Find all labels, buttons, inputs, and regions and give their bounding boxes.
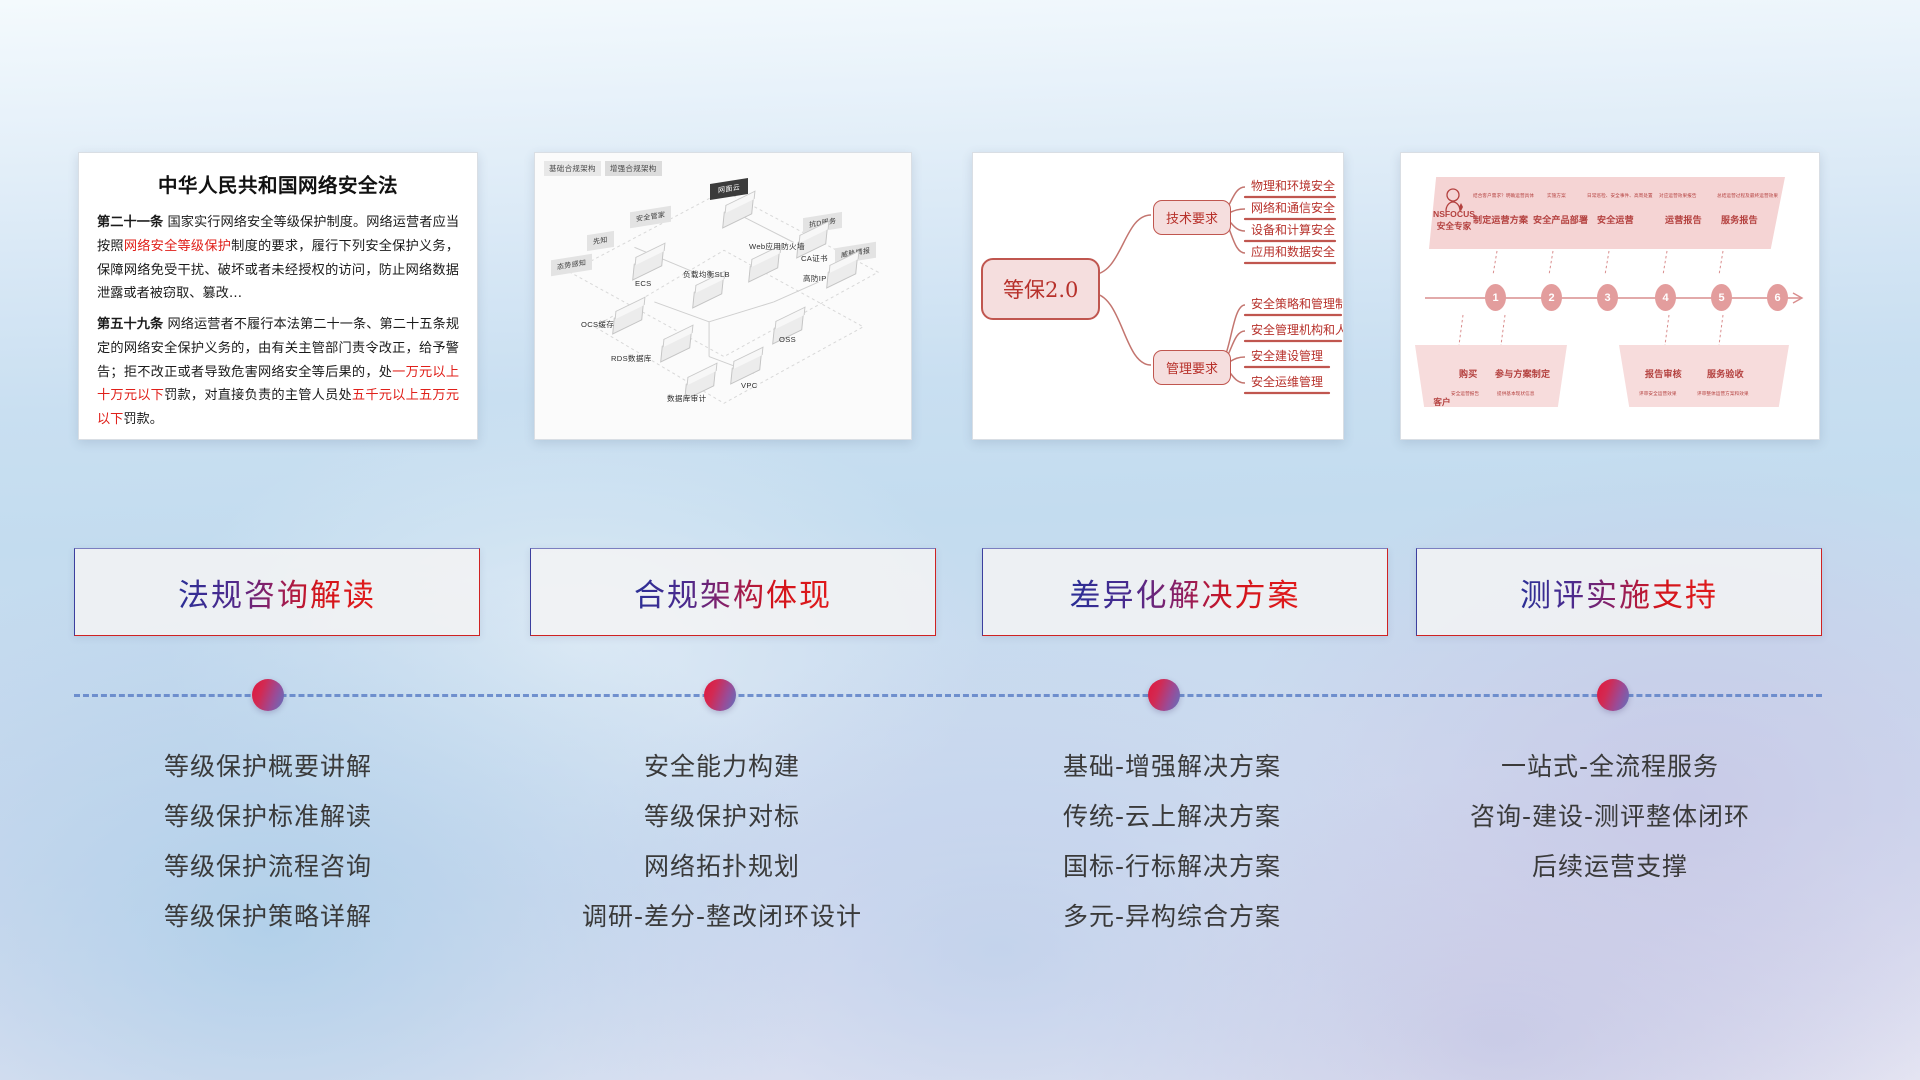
- bullet-column-1: 等级保护概要讲解 等级保护标准解读 等级保护流程咨询 等级保护策略详解: [58, 742, 478, 942]
- headline-box-compliance-architecture[interactable]: 合规架构体现: [530, 548, 936, 636]
- bullet-item: 安全能力构建: [512, 742, 932, 792]
- bullet-item: 等级保护对标: [512, 792, 932, 842]
- bullet-item: 等级保护流程咨询: [58, 842, 478, 892]
- bullet-item: 多元-异构综合方案: [962, 892, 1382, 942]
- bullet-item: 传统-云上解决方案: [962, 792, 1382, 842]
- slide-canvas: 中华人民共和国网络安全法 第二十一条 国家实行网络安全等级保护制度。网络运营者应…: [0, 0, 1920, 1080]
- bullet-item: 等级保护概要讲解: [58, 742, 478, 792]
- bullet-item: 咨询-建设-测评整体闭环: [1400, 792, 1820, 842]
- bullet-item: 一站式-全流程服务: [1400, 742, 1820, 792]
- bullet-item: 基础-增强解决方案: [962, 742, 1382, 792]
- bullet-item: 调研-差分-整改闭环设计: [512, 892, 932, 942]
- timeline-dashed-axis: [74, 694, 1822, 697]
- bullet-column-2: 安全能力构建 等级保护对标 网络拓扑规划 调研-差分-整改闭环设计: [512, 742, 932, 942]
- bullet-column-4: 一站式-全流程服务 咨询-建设-测评整体闭环 后续运营支撑: [1400, 742, 1820, 892]
- bullet-item: 等级保护策略详解: [58, 892, 478, 942]
- timeline-marker-3[interactable]: [1148, 679, 1180, 711]
- bullet-item: 国标-行标解决方案: [962, 842, 1382, 892]
- headline-label-2: 合规架构体现: [634, 570, 832, 615]
- bullet-column-3: 基础-增强解决方案 传统-云上解决方案 国标-行标解决方案 多元-异构综合方案: [962, 742, 1382, 942]
- timeline-marker-2[interactable]: [704, 679, 736, 711]
- bullet-item: 后续运营支撑: [1400, 842, 1820, 892]
- headline-box-regulation-consulting[interactable]: 法规咨询解读: [74, 548, 480, 636]
- headline-box-differentiated-solution[interactable]: 差异化解决方案: [982, 548, 1388, 636]
- headline-box-assessment-support[interactable]: 测评实施支持: [1416, 548, 1822, 636]
- headline-label-3: 差异化解决方案: [1070, 570, 1301, 615]
- timeline-marker-1[interactable]: [252, 679, 284, 711]
- headline-label-4: 测评实施支持: [1520, 570, 1718, 615]
- bullet-item: 等级保护标准解读: [58, 792, 478, 842]
- bullet-item: 网络拓扑规划: [512, 842, 932, 892]
- headline-label-1: 法规咨询解读: [178, 570, 376, 615]
- timeline-marker-4[interactable]: [1597, 679, 1629, 711]
